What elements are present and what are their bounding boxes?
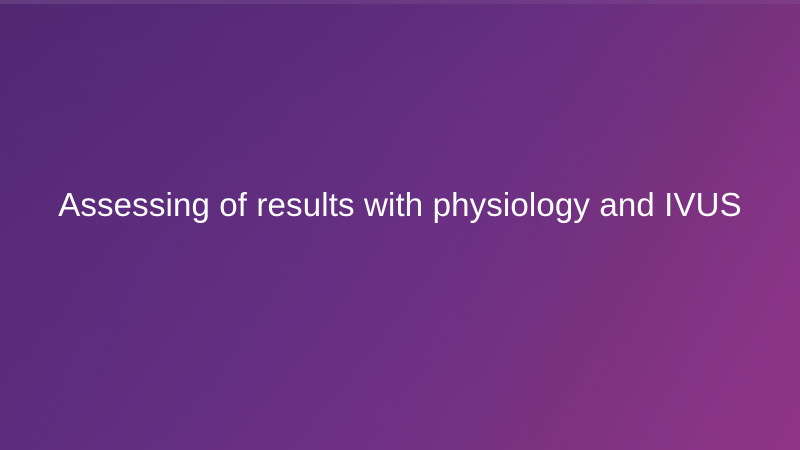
slide-title-block: Assessing of results with physiology and…	[0, 170, 800, 240]
presentation-slide: Assessing of results with physiology and…	[0, 0, 800, 450]
slide-title: Assessing of results with physiology and…	[58, 184, 742, 226]
slide-top-edge-band	[0, 0, 800, 4]
